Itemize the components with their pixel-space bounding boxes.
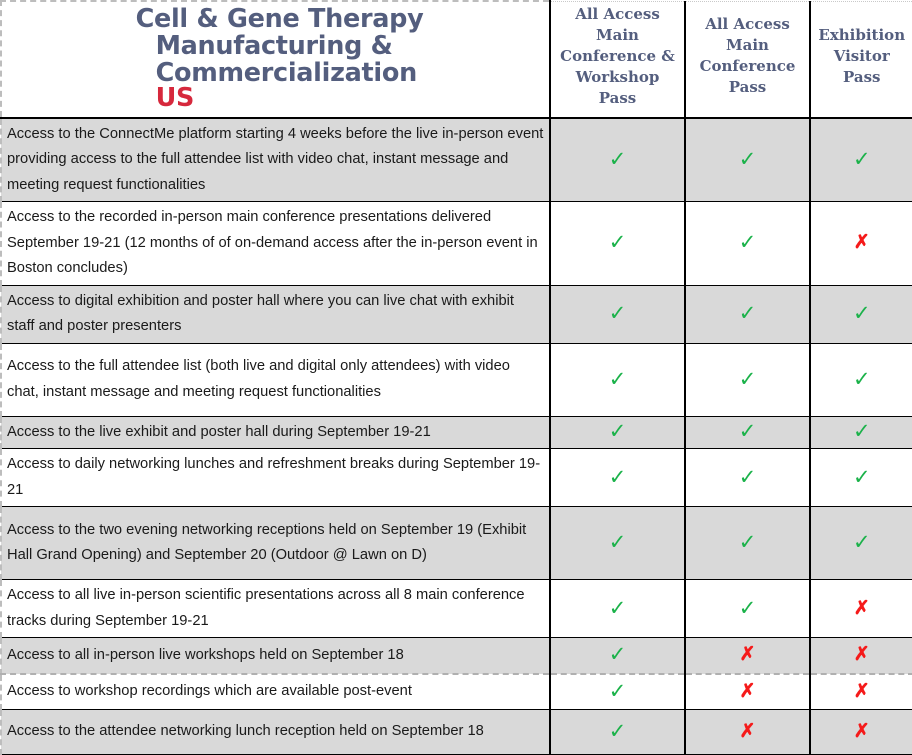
- benefit-cell-all_access_main_conference_and_workshop_pass: ✓: [550, 638, 685, 674]
- check-icon: ✓: [739, 232, 757, 253]
- benefit-cell-exhibition_visitor_pass: ✓: [810, 118, 912, 202]
- check-icon: ✓: [739, 303, 757, 324]
- event-logo: Cell & Gene Therapy Manufacturing & Comm…: [1, 1, 550, 118]
- benefit-cell-exhibition_visitor_pass: ✓: [810, 343, 912, 416]
- cross-icon: ✗: [854, 645, 870, 664]
- row-description: Access to the full attendee list (both l…: [1, 343, 550, 416]
- row-description: Access to all in-person live workshops h…: [1, 638, 550, 674]
- benefit-cell-all_access_main_conference_and_workshop_pass: ✓: [550, 580, 685, 638]
- column-header-label: All Access Main Conference Pass: [692, 14, 803, 98]
- table-header: Cell & Gene Therapy Manufacturing & Comm…: [1, 1, 912, 118]
- check-icon: ✓: [609, 369, 627, 390]
- row-description: Access to the live exhibit and poster ha…: [1, 416, 550, 449]
- cross-icon: ✗: [854, 682, 870, 701]
- table-row: Access to the full attendee list (both l…: [1, 343, 912, 416]
- column-header-label: Exhibition Visitor Pass: [817, 25, 907, 88]
- benefit-cell-all_access_main_conference_and_workshop_pass: ✓: [550, 118, 685, 202]
- check-icon: ✓: [739, 149, 757, 170]
- check-icon: ✓: [609, 303, 627, 324]
- check-icon: ✓: [853, 467, 871, 488]
- row-description: Access to workshop recordings which are …: [1, 674, 550, 710]
- row-description: Access to daily networking lunches and r…: [1, 449, 550, 507]
- benefit-cell-all_access_main_conference_and_workshop_pass: ✓: [550, 710, 685, 755]
- table-row: Access to the recorded in-person main co…: [1, 202, 912, 286]
- table-row: Access to the two evening networking rec…: [1, 507, 912, 580]
- check-icon: ✓: [609, 149, 627, 170]
- table-row: Access to all live in-person scientific …: [1, 580, 912, 638]
- check-icon: ✓: [609, 232, 627, 253]
- benefit-cell-all_access_main_conference_and_workshop_pass: ✓: [550, 416, 685, 449]
- check-icon: ✓: [609, 467, 627, 488]
- benefit-cell-all_access_main_conference_and_workshop_pass: ✓: [550, 202, 685, 286]
- table-row: Access to daily networking lunches and r…: [1, 449, 912, 507]
- check-icon: ✓: [609, 721, 627, 742]
- column-header-exhibition-visitor-pass: Exhibition Visitor Pass: [810, 1, 912, 118]
- column-header-label: All Access Main Conference & Workshop Pa…: [557, 4, 678, 109]
- row-description: Access to the ConnectMe platform startin…: [1, 118, 550, 202]
- table-row: Access to the live exhibit and poster ha…: [1, 416, 912, 449]
- cross-icon: ✗: [854, 599, 870, 618]
- benefit-cell-exhibition_visitor_pass: ✗: [810, 674, 912, 710]
- check-icon: ✓: [853, 303, 871, 324]
- check-icon: ✓: [853, 532, 871, 553]
- row-description: Access to the two evening networking rec…: [1, 507, 550, 580]
- benefit-cell-all_access_main_conference_pass: ✗: [685, 638, 810, 674]
- header-row: Cell & Gene Therapy Manufacturing & Comm…: [1, 1, 912, 118]
- cross-icon: ✗: [740, 645, 756, 664]
- benefit-cell-all_access_main_conference_and_workshop_pass: ✓: [550, 674, 685, 710]
- pass-comparison-sheet: Cell & Gene Therapy Manufacturing & Comm…: [0, 0, 912, 703]
- check-icon: ✓: [739, 467, 757, 488]
- benefit-cell-exhibition_visitor_pass: ✓: [810, 507, 912, 580]
- check-icon: ✓: [609, 421, 627, 442]
- pass-comparison-table: Cell & Gene Therapy Manufacturing & Comm…: [0, 0, 912, 755]
- check-icon: ✓: [739, 532, 757, 553]
- benefit-cell-exhibition_visitor_pass: ✗: [810, 710, 912, 755]
- cross-icon: ✗: [854, 233, 870, 252]
- benefit-cell-all_access_main_conference_and_workshop_pass: ✓: [550, 449, 685, 507]
- benefit-cell-exhibition_visitor_pass: ✗: [810, 202, 912, 286]
- benefit-cell-all_access_main_conference_and_workshop_pass: ✓: [550, 343, 685, 416]
- benefit-cell-all_access_main_conference_pass: ✓: [685, 118, 810, 202]
- benefit-cell-exhibition_visitor_pass: ✓: [810, 416, 912, 449]
- check-icon: ✓: [739, 598, 757, 619]
- benefit-cell-exhibition_visitor_pass: ✓: [810, 285, 912, 343]
- benefit-cell-all_access_main_conference_and_workshop_pass: ✓: [550, 507, 685, 580]
- row-description: Access to all live in-person scientific …: [1, 580, 550, 638]
- benefit-cell-all_access_main_conference_pass: ✓: [685, 202, 810, 286]
- logo-line-4-us: US: [136, 85, 424, 112]
- benefit-cell-all_access_main_conference_pass: ✓: [685, 285, 810, 343]
- row-description: Access to the attendee networking lunch …: [1, 710, 550, 755]
- benefit-cell-exhibition_visitor_pass: ✗: [810, 638, 912, 674]
- benefit-cell-all_access_main_conference_pass: ✓: [685, 416, 810, 449]
- cross-icon: ✗: [854, 722, 870, 741]
- cross-icon: ✗: [740, 682, 756, 701]
- check-icon: ✓: [853, 149, 871, 170]
- check-icon: ✓: [739, 421, 757, 442]
- check-icon: ✓: [853, 369, 871, 390]
- table-body: Access to the ConnectMe platform startin…: [1, 118, 912, 755]
- check-icon: ✓: [609, 598, 627, 619]
- check-icon: ✓: [739, 369, 757, 390]
- table-row: Access to workshop recordings which are …: [1, 674, 912, 710]
- check-icon: ✓: [609, 644, 627, 665]
- logo-wrap: Cell & Gene Therapy Manufacturing & Comm…: [128, 6, 424, 112]
- check-icon: ✓: [609, 681, 627, 702]
- benefit-cell-exhibition_visitor_pass: ✗: [810, 580, 912, 638]
- column-header-all-access-main-conference-pass: All Access Main Conference Pass: [685, 1, 810, 118]
- column-header-all-access-main-conference-and-workshop-pass: All Access Main Conference & Workshop Pa…: [550, 1, 685, 118]
- benefit-cell-all_access_main_conference_and_workshop_pass: ✓: [550, 285, 685, 343]
- cross-icon: ✗: [740, 722, 756, 741]
- table-row: Access to the ConnectMe platform startin…: [1, 118, 912, 202]
- table-row: Access to all in-person live workshops h…: [1, 638, 912, 674]
- benefit-cell-all_access_main_conference_pass: ✗: [685, 674, 810, 710]
- row-description: Access to the recorded in-person main co…: [1, 202, 550, 286]
- benefit-cell-all_access_main_conference_pass: ✓: [685, 580, 810, 638]
- logo-line-2: Manufacturing &: [136, 33, 424, 60]
- benefit-cell-all_access_main_conference_pass: ✓: [685, 343, 810, 416]
- check-icon: ✓: [609, 532, 627, 553]
- row-description: Access to digital exhibition and poster …: [1, 285, 550, 343]
- logo-line-1: Cell & Gene Therapy: [136, 6, 424, 33]
- table-row: Access to the attendee networking lunch …: [1, 710, 912, 755]
- table-row: Access to digital exhibition and poster …: [1, 285, 912, 343]
- benefit-cell-all_access_main_conference_pass: ✓: [685, 449, 810, 507]
- check-icon: ✓: [853, 421, 871, 442]
- benefit-cell-all_access_main_conference_pass: ✗: [685, 710, 810, 755]
- benefit-cell-all_access_main_conference_pass: ✓: [685, 507, 810, 580]
- benefit-cell-exhibition_visitor_pass: ✓: [810, 449, 912, 507]
